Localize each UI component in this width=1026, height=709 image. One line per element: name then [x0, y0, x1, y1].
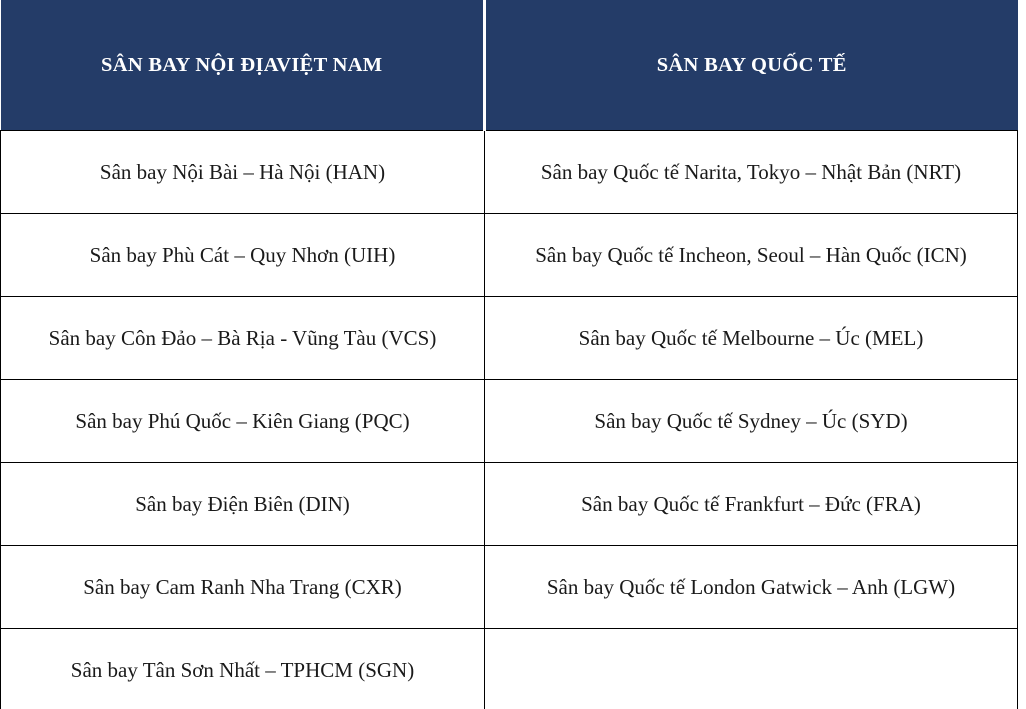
table-body: Sân bay Nội Bài – Hà Nội (HAN) Sân bay Q… [1, 131, 1018, 709]
cell-international-airport: Sân bay Quốc tế Sydney – Úc (SYD) [485, 380, 1018, 463]
cell-international-airport-empty [485, 629, 1018, 709]
table-row: Sân bay Nội Bài – Hà Nội (HAN) Sân bay Q… [1, 131, 1018, 214]
table-row: Sân bay Tân Sơn Nhất – TPHCM (SGN) [1, 629, 1018, 709]
cell-international-airport: Sân bay Quốc tế London Gatwick – Anh (LG… [485, 546, 1018, 629]
table-row: Sân bay Cam Ranh Nha Trang (CXR) Sân bay… [1, 546, 1018, 629]
table-row: Sân bay Phú Quốc – Kiên Giang (PQC) Sân … [1, 380, 1018, 463]
cell-domestic-airport: Sân bay Côn Đảo – Bà Rịa - Vũng Tàu (VCS… [1, 297, 485, 380]
cell-domestic-airport: Sân bay Phù Cát – Quy Nhơn (UIH) [1, 214, 485, 297]
cell-domestic-airport: Sân bay Điện Biên (DIN) [1, 463, 485, 546]
cell-international-airport: Sân bay Quốc tế Melbourne – Úc (MEL) [485, 297, 1018, 380]
header-row: SÂN BAY NỘI ĐỊAVIỆT NAM SÂN BAY QUỐC TẾ [1, 0, 1018, 131]
column-header-international: SÂN BAY QUỐC TẾ [485, 0, 1018, 131]
table-header: SÂN BAY NỘI ĐỊAVIỆT NAM SÂN BAY QUỐC TẾ [1, 0, 1018, 131]
column-header-domestic: SÂN BAY NỘI ĐỊAVIỆT NAM [1, 0, 485, 131]
cell-domestic-airport: Sân bay Cam Ranh Nha Trang (CXR) [1, 546, 485, 629]
cell-domestic-airport: Sân bay Tân Sơn Nhất – TPHCM (SGN) [1, 629, 485, 709]
table-row: Sân bay Côn Đảo – Bà Rịa - Vũng Tàu (VCS… [1, 297, 1018, 380]
airport-comparison-table: SÂN BAY NỘI ĐỊAVIỆT NAM SÂN BAY QUỐC TẾ … [0, 0, 1018, 709]
table-row: Sân bay Điện Biên (DIN) Sân bay Quốc tế … [1, 463, 1018, 546]
cell-international-airport: Sân bay Quốc tế Narita, Tokyo – Nhật Bản… [485, 131, 1018, 214]
cell-domestic-airport: Sân bay Phú Quốc – Kiên Giang (PQC) [1, 380, 485, 463]
cell-international-airport: Sân bay Quốc tế Frankfurt – Đức (FRA) [485, 463, 1018, 546]
cell-domestic-airport: Sân bay Nội Bài – Hà Nội (HAN) [1, 131, 485, 214]
airport-table-container: SÂN BAY NỘI ĐỊAVIỆT NAM SÂN BAY QUỐC TẾ … [0, 0, 1026, 709]
cell-international-airport: Sân bay Quốc tế Incheon, Seoul – Hàn Quố… [485, 214, 1018, 297]
table-row: Sân bay Phù Cát – Quy Nhơn (UIH) Sân bay… [1, 214, 1018, 297]
